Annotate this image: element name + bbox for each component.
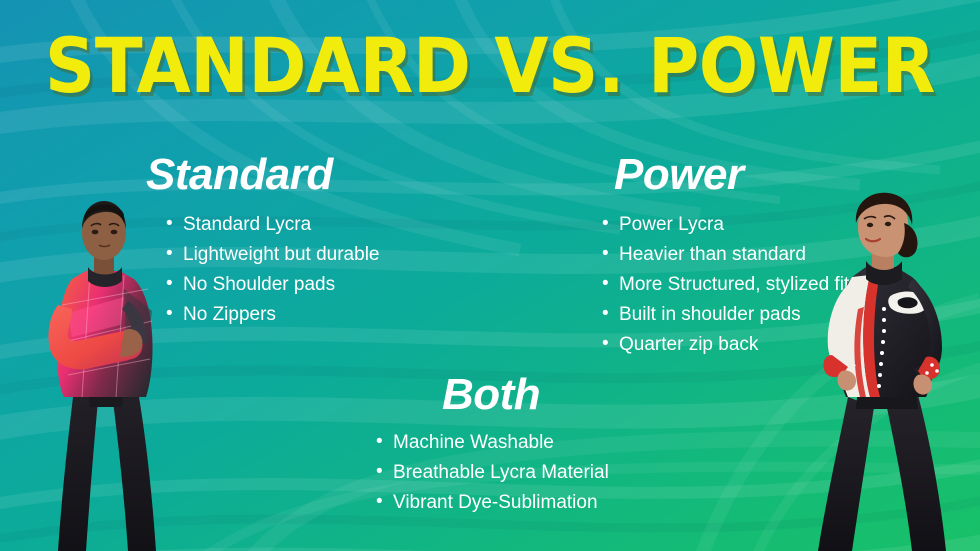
standard-feature-list: Standard Lycra Lightweight but durable N… xyxy=(166,210,379,330)
power-uniform-model-photo xyxy=(800,189,968,551)
heading-power: Power xyxy=(614,152,744,198)
slide-canvas: STANDARD VS. POWER Standard Standard Lyc… xyxy=(0,0,980,551)
list-item: Breathable Lycra Material xyxy=(376,458,609,488)
heading-both: Both xyxy=(442,372,540,418)
list-item: Lightweight but durable xyxy=(166,240,379,270)
list-item: Vibrant Dye-Sublimation xyxy=(376,488,609,518)
heading-standard: Standard xyxy=(146,152,333,198)
page-title: STANDARD VS. POWER xyxy=(39,26,941,106)
list-item: Machine Washable xyxy=(376,428,609,458)
both-feature-list: Machine Washable Breathable Lycra Materi… xyxy=(376,428,609,518)
list-item: Standard Lycra xyxy=(166,210,379,240)
list-item: No Shoulder pads xyxy=(166,270,379,300)
list-item: No Zippers xyxy=(166,300,379,330)
standard-uniform-model-photo xyxy=(28,193,180,551)
